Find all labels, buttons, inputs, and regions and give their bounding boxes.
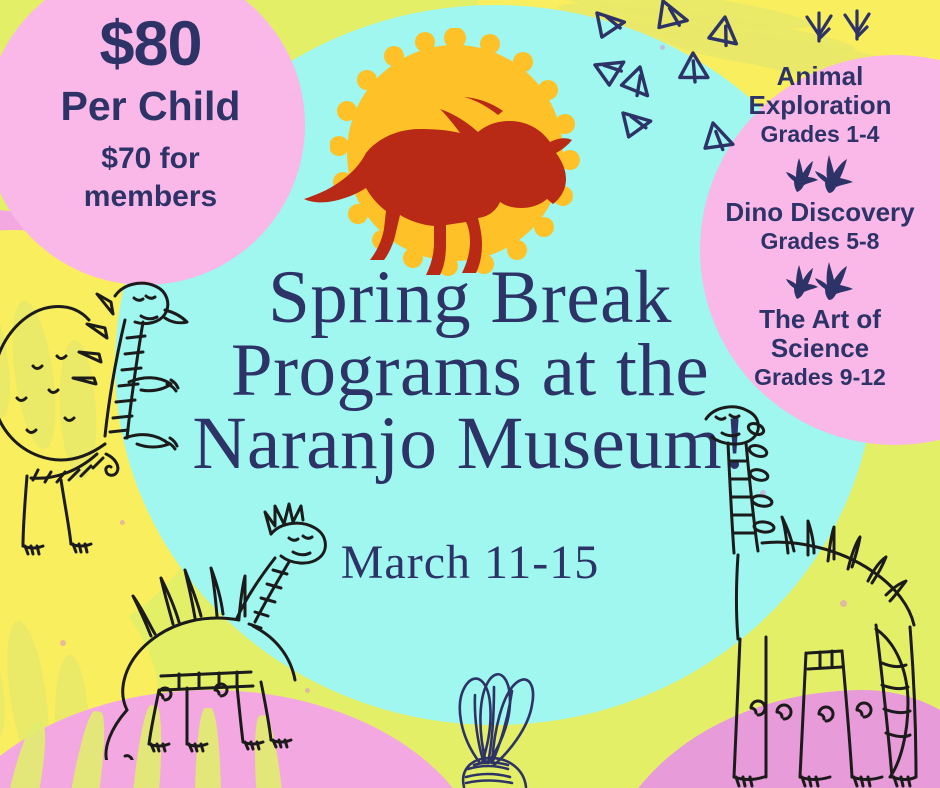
grass-tuft-doodle xyxy=(805,5,885,55)
price-block: $80 Per Child $70 for members xyxy=(8,10,293,215)
program-2-grades: Grades 5-8 xyxy=(700,228,940,256)
price-member-line2: members xyxy=(84,180,217,213)
spring-break-programs-flyer: $80 Per Child $70 for members Animal Exp… xyxy=(0,0,940,788)
headline-line1: Spring Break xyxy=(120,262,820,335)
brontosaurus-doodle xyxy=(75,500,405,760)
price-per-child-label: Per Child xyxy=(8,84,293,128)
price-amount: $80 xyxy=(8,10,293,78)
price-member-line1: $70 for xyxy=(101,142,199,175)
program-item-2: Dino Discovery Grades 5-8 xyxy=(700,198,940,256)
price-member-label: $70 for members xyxy=(8,140,293,215)
plant-doodle xyxy=(440,645,560,788)
sauropod-doodle xyxy=(700,385,940,788)
speck xyxy=(60,640,66,646)
program-2-name: Dino Discovery xyxy=(700,198,940,227)
